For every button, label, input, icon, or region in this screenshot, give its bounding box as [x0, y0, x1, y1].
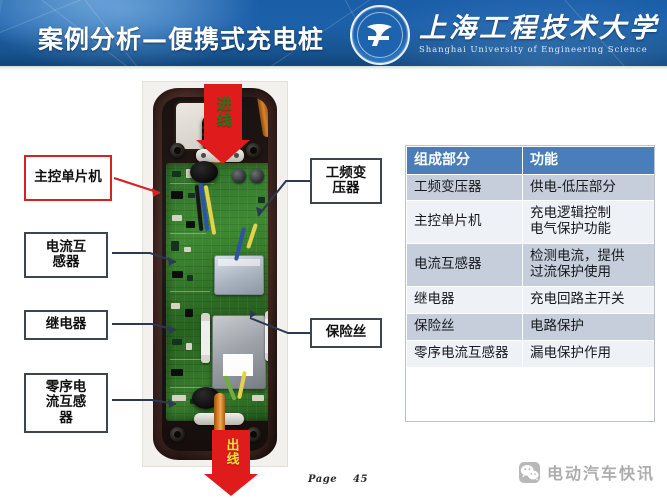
- table-header-function: 功能: [523, 147, 655, 175]
- table-header-row: 组成部分 功能: [407, 147, 655, 175]
- slide-header: 案例分析—便携式充电桩 上海工程技术大学 Shanghai University…: [0, 0, 667, 70]
- table-row: 主控单片机充电逻辑控制电气保护功能: [407, 201, 655, 244]
- callout-fuse[interactable]: 保险丝: [310, 318, 382, 348]
- table-cell-part: 电流互感器: [407, 244, 523, 287]
- side-cable: [257, 97, 268, 137]
- current-transformer-toroid: [190, 161, 218, 183]
- callout-transformer[interactable]: 工频变压器: [310, 158, 382, 204]
- electrolytic-capacitor: [250, 169, 264, 183]
- table-cell-part: 主控单片机: [407, 201, 523, 244]
- table-cell-part: 零序电流互感器: [407, 340, 523, 367]
- table-cell-function: 电路保护: [523, 314, 655, 341]
- table-header-part: 组成部分: [407, 147, 523, 175]
- table-cell-part: 保险丝: [407, 314, 523, 341]
- university-name-en: Shanghai University of Engineering Scien…: [419, 46, 659, 55]
- table-cell-function: 充电逻辑控制电气保护功能: [523, 201, 655, 244]
- outlet-arrow-shaft: 出线: [212, 430, 250, 474]
- frequency-transformer: [214, 255, 264, 295]
- table-row: 工频变压器供电-低压部分: [407, 174, 655, 201]
- wechat-icon: [519, 462, 540, 483]
- electrolytic-capacitor: [232, 169, 246, 183]
- table-row: 继电器充电回路主开关: [407, 287, 655, 314]
- table-cell-part: 继电器: [407, 287, 523, 314]
- slide-canvas: 案例分析—便携式充电桩 上海工程技术大学 Shanghai University…: [0, 0, 667, 500]
- wechat-glyph-icon: [519, 462, 540, 483]
- case-screw: [170, 143, 185, 158]
- callout-mcu[interactable]: 主控单片机: [24, 155, 112, 201]
- main-pcb: [166, 163, 268, 421]
- university-name-cn: 上海工程技术大学: [419, 15, 659, 42]
- table-row: 保险丝电路保护: [407, 314, 655, 341]
- callout-zct[interactable]: 零序电流互感器: [24, 373, 108, 433]
- inlet-arrow: 进线: [196, 84, 250, 164]
- watermark-label: 电动汽车快讯: [547, 460, 655, 484]
- components-table: 组成部分 功能 工频变压器供电-低压部分主控单片机充电逻辑控制电气保护功能电流互…: [406, 146, 655, 368]
- fuse-right: [265, 311, 268, 361]
- relay-module: [212, 315, 266, 389]
- page-title: 案例分析—便携式充电桩: [38, 20, 324, 56]
- wechat-watermark: 电动汽车快讯: [519, 460, 655, 484]
- table-row: 电流互感器检测电流，提供过流保护使用: [407, 244, 655, 287]
- university-lockup: 上海工程技术大学 Shanghai University of Engineer…: [350, 4, 659, 66]
- page-number: 45: [353, 474, 368, 485]
- university-names: 上海工程技术大学 Shanghai University of Engineer…: [419, 15, 659, 55]
- page-indicator: Page 45: [308, 474, 368, 485]
- outlet-arrow-head: [204, 474, 258, 496]
- table-cell-part: 工频变压器: [407, 174, 523, 201]
- header-underline: [0, 66, 667, 70]
- inlet-arrow-label: 进线: [216, 96, 231, 128]
- outlet-arrow: 出线: [204, 430, 258, 496]
- page-prefix: Page: [308, 474, 337, 485]
- case-screw: [170, 427, 185, 442]
- inlet-arrow-head: [196, 140, 250, 164]
- table-cell-function: 充电回路主开关: [523, 287, 655, 314]
- outlet-arrow-label: 出线: [225, 438, 238, 466]
- fuse-left: [201, 313, 210, 363]
- university-seal-icon: [350, 5, 410, 65]
- table-cell-function: 供电-低压部分: [523, 174, 655, 201]
- inlet-arrow-shaft: 进线: [204, 84, 242, 140]
- callout-ct[interactable]: 电流互感器: [24, 232, 108, 278]
- table-row: 零序电流互感器漏电保护作用: [407, 340, 655, 367]
- table-cell-function: 检测电流，提供过流保护使用: [523, 244, 655, 287]
- seal-glyph-icon: [365, 22, 395, 48]
- callout-relay[interactable]: 继电器: [24, 310, 108, 340]
- table-cell-function: 漏电保护作用: [523, 340, 655, 367]
- table-body: 工频变压器供电-低压部分主控单片机充电逻辑控制电气保护功能电流互感器检测电流，提…: [407, 174, 655, 367]
